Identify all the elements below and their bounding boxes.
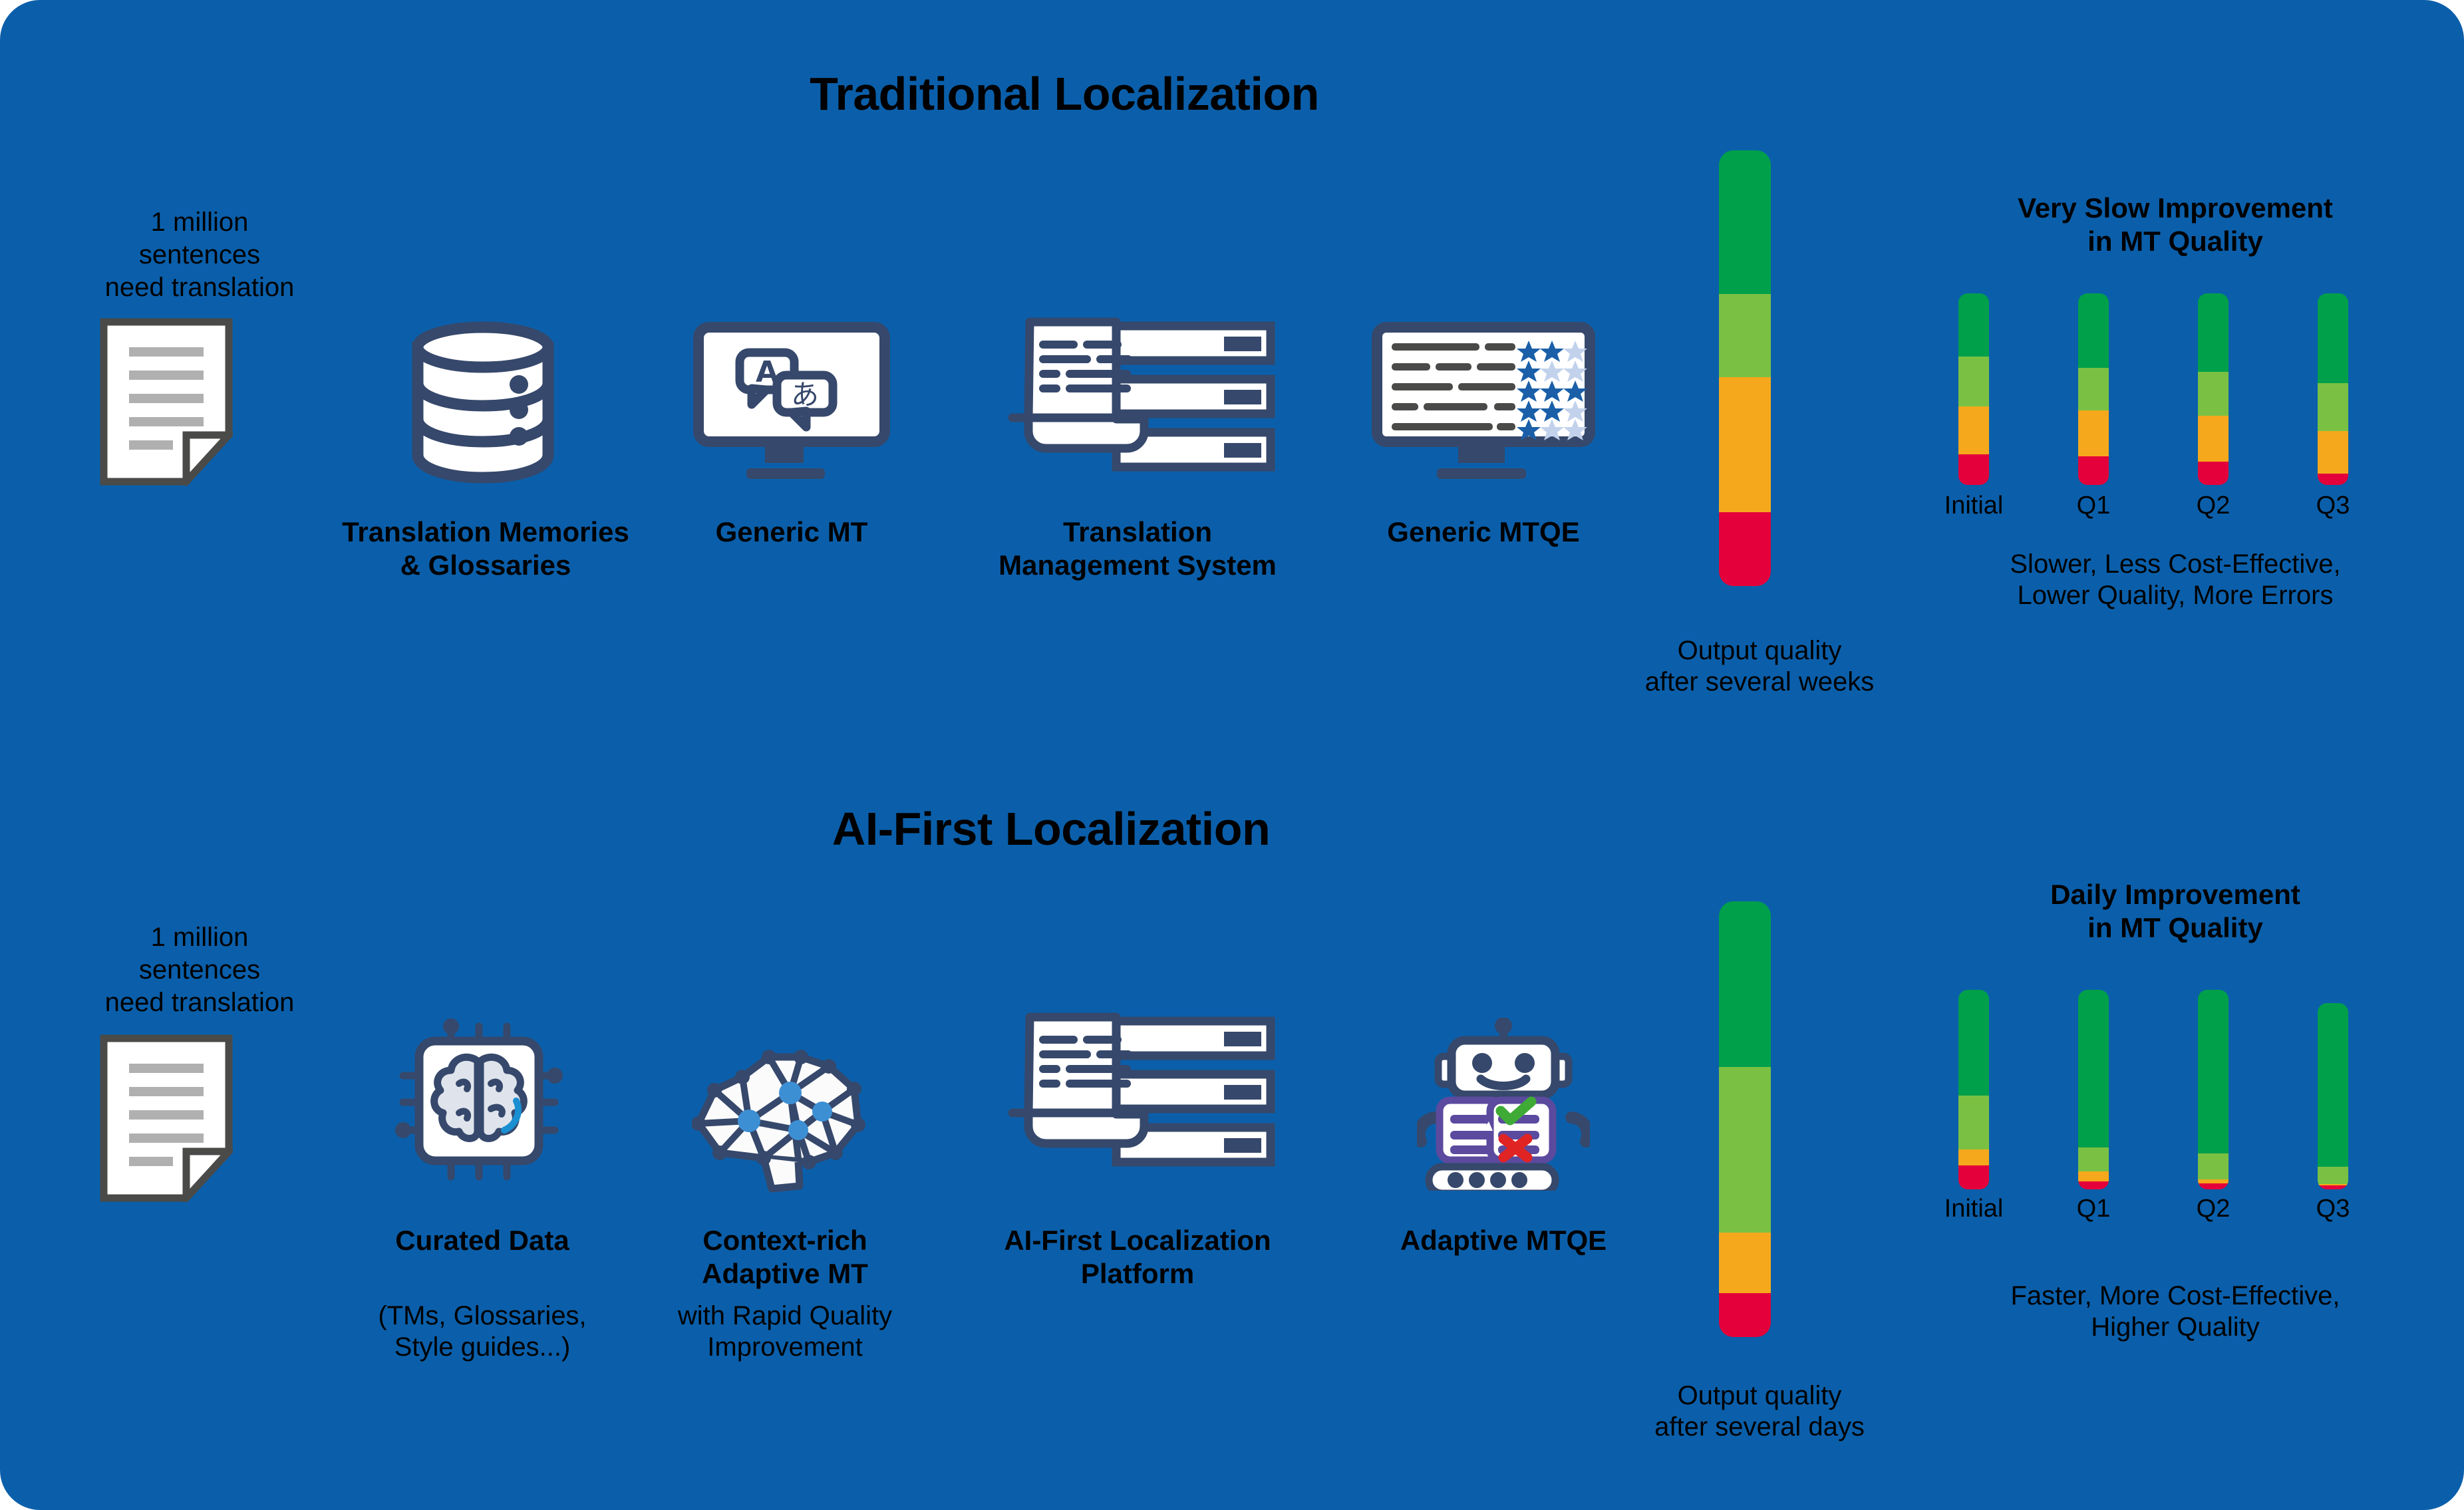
- bar-segment-red: [2078, 1181, 2109, 1189]
- server-stack-icon: [998, 1008, 1277, 1187]
- improvement-title-traditional: Very Slow Improvement in MT Quality: [1956, 192, 2395, 257]
- svg-text:あ: あ: [791, 378, 819, 411]
- quality-bar-q2-traditional: [2198, 293, 2229, 485]
- bar-segment-red: [1958, 454, 1989, 485]
- output-quality-bar-traditional: [1719, 150, 1771, 586]
- step-label-adaptive-mtqe: Adaptive MTQE: [1354, 1224, 1653, 1257]
- bar-segment-light-green: [2198, 372, 2229, 416]
- bar-segment-light-green: [2198, 1153, 2229, 1179]
- bar-segment-red: [2198, 462, 2229, 485]
- step-label-ai-first-platform: AI-First Localization Platform: [938, 1224, 1337, 1290]
- brain-chip-icon: [392, 1014, 565, 1187]
- bar-segment-dark-green: [2198, 293, 2229, 372]
- quality-bar-q3-ai-first: [2318, 1003, 2348, 1189]
- tick-label-initial-traditional: Initial: [1914, 491, 2034, 521]
- quality-bar-q1-traditional: [2078, 293, 2109, 485]
- tick-label-q3-ai-first: Q3: [2273, 1194, 2393, 1224]
- monitor-translate-icon: A あ: [692, 321, 891, 486]
- bar-segment-dark-green: [1719, 150, 1771, 294]
- section-title-ai-first: AI-First Localization: [718, 802, 1384, 857]
- improvement-footer-traditional: Slower, Less Cost-Effective, Lower Quali…: [1936, 549, 2415, 611]
- tick-label-q1-traditional: Q1: [2034, 491, 2153, 521]
- server-stack-icon: [998, 313, 1277, 492]
- neural-network-icon: [692, 1008, 878, 1194]
- bar-segment-red: [2318, 1185, 2348, 1189]
- bar-segment-dark-green: [2078, 990, 2109, 1147]
- improvement-footer-ai-first: Faster, More Cost-Effective, Higher Qual…: [1936, 1281, 2415, 1343]
- output-caption-traditional: Output quality after several weeks: [1577, 635, 1942, 698]
- document-icon: [100, 318, 233, 486]
- bar-segment-dark-green: [1719, 901, 1771, 1067]
- bar-segment-red: [1719, 1293, 1771, 1337]
- bar-segment-light-green: [1719, 1067, 1771, 1233]
- database-icon: [404, 318, 561, 484]
- bar-segment-dark-green: [2078, 293, 2109, 368]
- step-label-generic-mtqe: Generic MTQE: [1337, 516, 1630, 549]
- bar-segment-orange: [2198, 416, 2229, 462]
- step-label-curated-data: Curated Data: [326, 1224, 639, 1257]
- output-caption-ai-first: Output quality after several days: [1577, 1380, 1942, 1443]
- bar-segment-light-green: [2318, 1167, 2348, 1183]
- bar-segment-light-green: [1719, 294, 1771, 377]
- bar-segment-red: [1958, 1165, 1989, 1189]
- tick-label-initial-ai-first: Initial: [1914, 1194, 2034, 1224]
- step-label-adaptive-mt: Context-rich Adaptive MT: [652, 1224, 918, 1290]
- bar-segment-red: [1719, 512, 1771, 586]
- tick-label-q2-ai-first: Q2: [2153, 1194, 2273, 1224]
- intro-text-traditional: 1 million sentences need translation: [40, 206, 359, 303]
- quality-bar-initial-ai-first: [1958, 990, 1989, 1189]
- step-sublabel-curated-data: (TMs, Glossaries, Style guides...): [313, 1300, 652, 1363]
- bar-segment-orange: [1958, 406, 1989, 454]
- quality-bar-q2-ai-first: [2198, 990, 2229, 1189]
- quality-bar-q1-ai-first: [2078, 990, 2109, 1189]
- bar-segment-orange: [1719, 377, 1771, 512]
- bar-segment-orange: [2078, 1171, 2109, 1181]
- bar-segment-orange: [1719, 1233, 1771, 1294]
- quality-bar-q3-traditional: [2318, 293, 2348, 485]
- document-icon: [100, 1034, 233, 1202]
- improvement-title-ai-first: Daily Improvement in MT Quality: [1956, 878, 2395, 944]
- bar-segment-dark-green: [2318, 1003, 2348, 1167]
- bar-segment-orange: [2318, 431, 2348, 473]
- bar-segment-dark-green: [1958, 990, 1989, 1096]
- bar-segment-orange: [2078, 410, 2109, 456]
- bar-segment-red: [2198, 1183, 2229, 1189]
- bar-segment-light-green: [1958, 357, 1989, 406]
- step-label-tms: Translation Management System: [945, 516, 1330, 581]
- quality-bar-initial-traditional: [1958, 293, 1989, 485]
- intro-text-ai-first: 1 million sentences need translation: [40, 921, 359, 1018]
- section-title-traditional: Traditional Localization: [698, 67, 1430, 122]
- bar-segment-dark-green: [2318, 293, 2348, 383]
- bar-segment-light-green: [2078, 1147, 2109, 1171]
- tick-label-q3-traditional: Q3: [2273, 491, 2393, 521]
- bar-segment-red: [2078, 456, 2109, 485]
- step-label-translation-memories: Translation Memories & Glossaries: [286, 516, 685, 581]
- output-quality-bar-ai-first: [1719, 901, 1771, 1337]
- bar-segment-orange: [1958, 1149, 1989, 1165]
- robot-qe-icon: [1417, 1018, 1590, 1191]
- bar-segment-red: [2318, 474, 2348, 485]
- monitor-stars-icon: [1370, 321, 1597, 486]
- bar-segment-light-green: [2078, 368, 2109, 410]
- infographic-canvas: Traditional Localization 1 million sente…: [0, 0, 2464, 1510]
- step-label-generic-mt: Generic MT: [665, 516, 918, 549]
- step-sublabel-adaptive-mt: with Rapid Quality Improvement: [639, 1300, 931, 1363]
- bar-segment-dark-green: [1958, 293, 1989, 357]
- bar-segment-light-green: [1958, 1096, 1989, 1149]
- tick-label-q2-traditional: Q2: [2153, 491, 2273, 521]
- bar-segment-dark-green: [2198, 990, 2229, 1153]
- bar-segment-light-green: [2318, 383, 2348, 431]
- tick-label-q1-ai-first: Q1: [2034, 1194, 2153, 1224]
